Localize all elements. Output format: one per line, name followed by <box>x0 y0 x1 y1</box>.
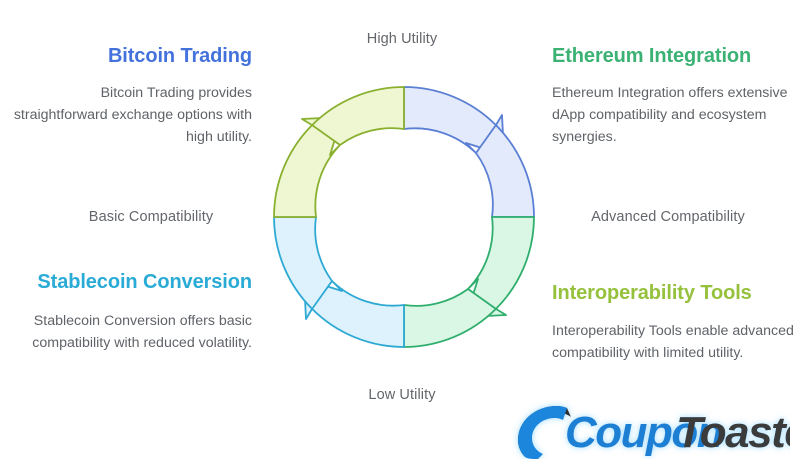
quadrant-block-interoperability-tools: Interoperability Tools Interoperability … <box>552 281 794 364</box>
quadrant-title-stablecoin-conversion: Stablecoin Conversion <box>10 270 252 294</box>
axis-label-advanced-compatibility: Advanced Compatibility <box>543 209 793 225</box>
axis-label-basic-compatibility: Basic Compatibility <box>38 209 264 225</box>
logo-arc-blue-icon <box>518 406 567 459</box>
quadrant-body-bitcoin-trading: Bitcoin Trading provides straightforward… <box>10 82 252 148</box>
quadrant-block-ethereum-integration: Ethereum Integration Ethereum Integratio… <box>552 44 794 148</box>
logo-svg: Coupon Toaster <box>505 399 790 459</box>
diagram-page: High Utility Low Utility Basic Compatibi… <box>0 0 804 468</box>
quadrant-block-stablecoin-conversion: Stablecoin Conversion Stablecoin Convers… <box>10 270 252 354</box>
quadrant-block-bitcoin-trading: Bitcoin Trading Bitcoin Trading provides… <box>10 44 252 148</box>
quadrant-title-ethereum-integration: Ethereum Integration <box>552 44 794 68</box>
quadrant-title-bitcoin-trading: Bitcoin Trading <box>10 44 252 68</box>
quadrant-body-ethereum-integration: Ethereum Integration offers extensive dA… <box>552 82 794 148</box>
coupon-toaster-logo: Coupon Toaster <box>505 399 790 459</box>
quadrant-body-stablecoin-conversion: Stablecoin Conversion offers basic compa… <box>10 310 252 354</box>
logo-text-toaster: Toaster <box>676 408 790 457</box>
quadrant-title-interoperability-tools: Interoperability Tools <box>552 281 794 305</box>
quadrant-body-interoperability-tools: Interoperability Tools enable advanced c… <box>552 320 794 364</box>
cyclical-arrow-diagram <box>272 83 536 351</box>
